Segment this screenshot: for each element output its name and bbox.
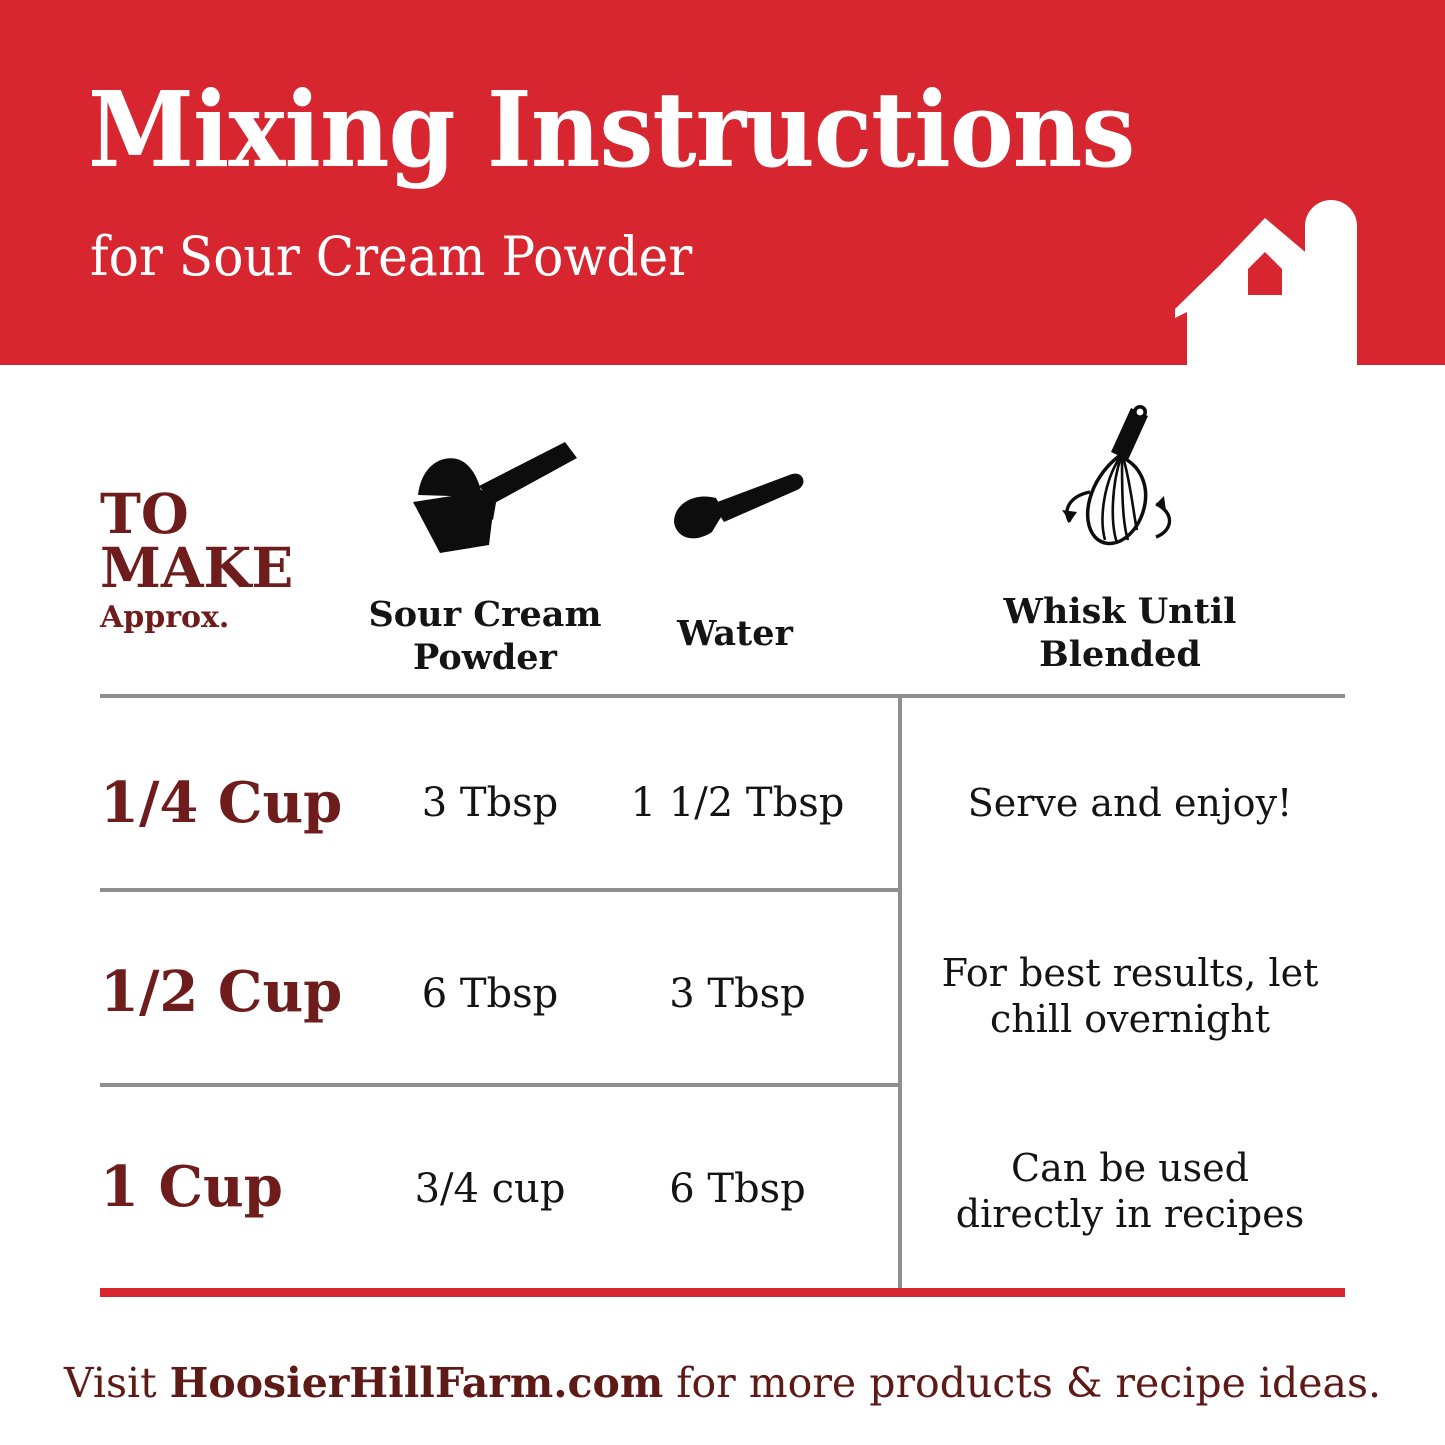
footer-site-link[interactable]: HoosierHillFarm.com	[170, 1359, 664, 1407]
table-row-2-note: For best results, let chill overnight	[925, 950, 1335, 1042]
column-header-powder-line-2: Powder	[335, 636, 635, 679]
table-row-2-powder: 6 Tbsp	[370, 971, 610, 1017]
table-row-2-note-line-1: For best results, let	[925, 950, 1335, 996]
table-row-divider-1	[100, 888, 900, 892]
whisk-icon	[1052, 400, 1192, 555]
table-row-1-water: 1 1/2 Tbsp	[625, 780, 850, 826]
to-make-approx: Approx.	[100, 599, 330, 637]
table-row-2-water: 3 Tbsp	[625, 971, 850, 1017]
table-column-divider	[898, 698, 902, 1292]
mixing-instructions-infographic: Mixing Instructions for Sour Cream Powde…	[0, 0, 1445, 1445]
measuring-scoop-icon	[405, 440, 585, 555]
table-row-1-note-line-1: Serve and enjoy!	[925, 780, 1335, 826]
table-bottom-rule	[100, 1288, 1345, 1297]
column-header-to-make: TO MAKE Approx.	[100, 487, 330, 637]
footer-suffix: for more products & recipe ideas.	[663, 1359, 1381, 1407]
table-row-2-amount: 1/2 Cup	[100, 962, 400, 1022]
table-row-3-note-line-1: Can be used	[925, 1145, 1335, 1191]
column-header-water-line-1: Water	[625, 612, 845, 655]
page-subtitle: for Sour Cream Powder	[90, 228, 692, 286]
table-row-1-amount: 1/4 Cup	[100, 773, 400, 833]
to-make-line-1: TO	[100, 487, 330, 541]
table-row-1-powder: 3 Tbsp	[370, 780, 610, 826]
table-row-2-note-line-2: chill overnight	[925, 996, 1335, 1042]
column-header-whisk-line-2: Blended	[935, 633, 1305, 676]
footer-visit-line: Visit HoosierHillFarm.com for more produ…	[0, 1358, 1445, 1408]
barn-silo-icon	[1157, 190, 1367, 365]
table-row-divider-2	[100, 1083, 900, 1087]
measuring-spoon-icon	[672, 472, 807, 557]
table-row-3-powder: 3/4 cup	[370, 1166, 610, 1212]
table-row-3-water: 6 Tbsp	[625, 1166, 850, 1212]
column-header-powder-line-1: Sour Cream	[335, 593, 635, 636]
table-header-rule	[100, 694, 1345, 698]
column-header-water: Water	[625, 612, 845, 655]
table-row-1-note: Serve and enjoy!	[925, 780, 1335, 826]
column-header-sour-cream-powder: Sour Cream Powder	[335, 593, 635, 679]
footer-prefix: Visit	[64, 1359, 170, 1407]
to-make-line-2: MAKE	[100, 541, 330, 595]
table-row-3-amount: 1 Cup	[100, 1157, 400, 1217]
header-banner: Mixing Instructions for Sour Cream Powde…	[0, 0, 1445, 365]
page-title: Mixing Instructions	[88, 78, 1134, 182]
column-header-whisk-line-1: Whisk Until	[935, 590, 1305, 633]
table-row-3-note: Can be used directly in recipes	[925, 1145, 1335, 1237]
column-header-whisk-until-blended: Whisk Until Blended	[935, 590, 1305, 676]
table-row-3-note-line-2: directly in recipes	[925, 1191, 1335, 1237]
